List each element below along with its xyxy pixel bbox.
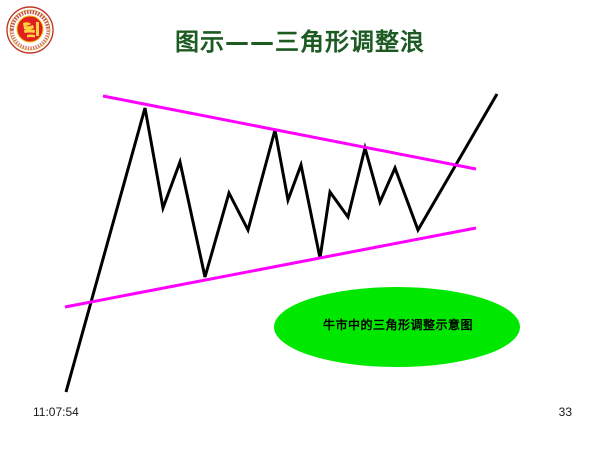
footer-page-number: 33 <box>559 405 572 419</box>
callout-label: 牛市中的三角形调整示意图 <box>274 316 522 333</box>
slide-canvas: 图示——三角形调整浪 牛市中的三角形调整示意图 11:07:54 33 <box>0 0 600 450</box>
triangle-correction-chart <box>0 0 600 450</box>
upper-trendline <box>103 96 476 169</box>
footer-timestamp: 11:07:54 <box>33 405 79 419</box>
